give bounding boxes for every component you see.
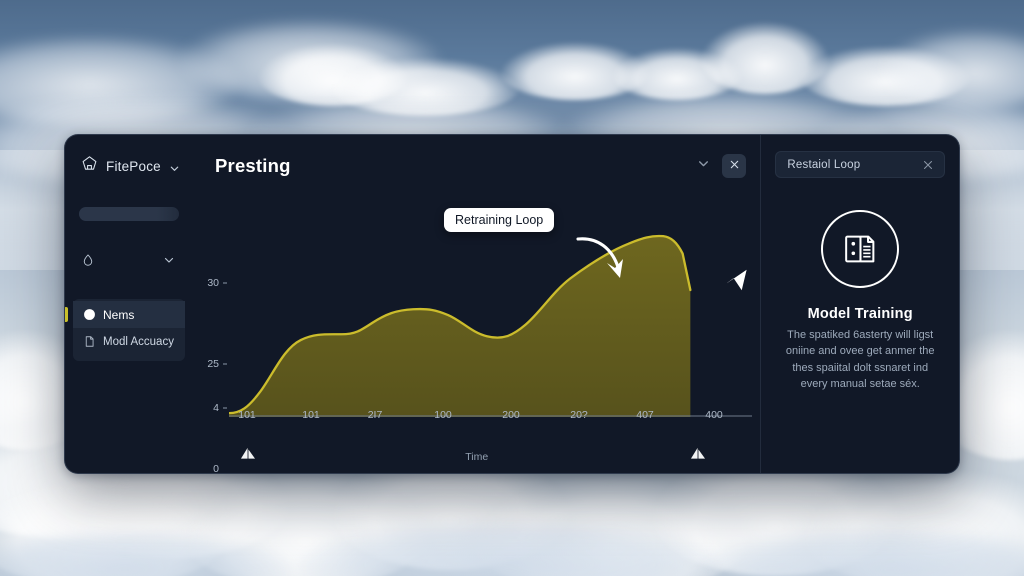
collapse-button[interactable] — [692, 155, 714, 177]
chart-panel: 30 25 4 0 — [193, 197, 760, 473]
clock-icon — [83, 308, 96, 321]
sidebar-item-model-accuracy[interactable]: Modl Accuacy — [73, 328, 185, 355]
x-axis-label: 200 — [502, 409, 520, 421]
x-axis-label: 100 — [434, 409, 452, 421]
annotation-callout[interactable]: Retraining Loop — [444, 208, 554, 232]
window-controls — [692, 154, 746, 178]
main-region: FitePoce Presting — [65, 135, 761, 473]
brand-name: FitePoce — [106, 159, 161, 174]
mountain-icon[interactable] — [239, 447, 257, 465]
panel-heading: Model Training — [775, 306, 945, 322]
chevron-down-icon — [163, 253, 175, 271]
x-axis-label: 2I7 — [368, 409, 383, 421]
app-window: FitePoce Presting — [64, 134, 960, 474]
curved-arrow-down-right-icon — [576, 233, 630, 291]
close-icon — [729, 157, 740, 175]
panel-header[interactable]: Restaiol Loop — [775, 151, 945, 178]
documents-circle-icon — [821, 210, 899, 288]
sidebar-item-nems[interactable]: Nems — [73, 301, 185, 328]
pointer-triangle-icon — [727, 268, 749, 296]
home-pentagon-icon — [81, 155, 98, 177]
x-axis-label: 407 — [636, 409, 654, 421]
droplet-icon — [81, 253, 95, 272]
x-axis-label: 400 — [705, 409, 723, 421]
brand-menu[interactable]: FitePoce — [81, 155, 199, 177]
plot-area — [229, 215, 752, 417]
area-chart[interactable] — [229, 215, 752, 417]
y-axis-label: 4 — [193, 402, 219, 414]
close-button[interactable] — [722, 154, 746, 178]
chevron-down-icon — [169, 161, 180, 172]
panel-body-text: The spatiked 6asterty will ligst oniine … — [775, 327, 945, 392]
panel-badge — [775, 210, 945, 288]
x-axis-title: Time — [465, 451, 488, 463]
panel-header-title: Restaiol Loop — [787, 159, 860, 171]
y-axis-label: 30 — [193, 277, 219, 289]
x-axis-label: 101 — [302, 409, 320, 421]
sidebar-item-label: Modl Accuacy — [103, 336, 174, 348]
details-panel: Restaiol Loop Model Training The s — [761, 135, 959, 473]
x-axis-label: 101 — [238, 409, 256, 421]
x-axis-label: 20? — [570, 409, 588, 421]
page-title: Presting — [215, 155, 291, 177]
mountain-icon[interactable] — [689, 447, 707, 465]
sidebar-group-header[interactable] — [73, 253, 185, 271]
document-icon — [83, 335, 96, 348]
search-input[interactable] — [79, 207, 179, 221]
sidebar-nav: Nems Modl Accuacy — [73, 299, 185, 361]
y-axis-tick — [223, 283, 227, 284]
sidebar: Nems Modl Accuacy — [65, 197, 193, 473]
panel-close-button[interactable] — [920, 157, 936, 173]
sidebar-item-label: Nems — [103, 308, 134, 322]
window-titlebar: FitePoce Presting — [65, 135, 760, 197]
y-axis-label: 25 — [193, 358, 219, 370]
chevron-down-icon — [697, 157, 710, 175]
y-axis-label: 0 — [193, 463, 219, 474]
y-axis-tick — [223, 408, 227, 409]
y-axis-tick — [223, 364, 227, 365]
